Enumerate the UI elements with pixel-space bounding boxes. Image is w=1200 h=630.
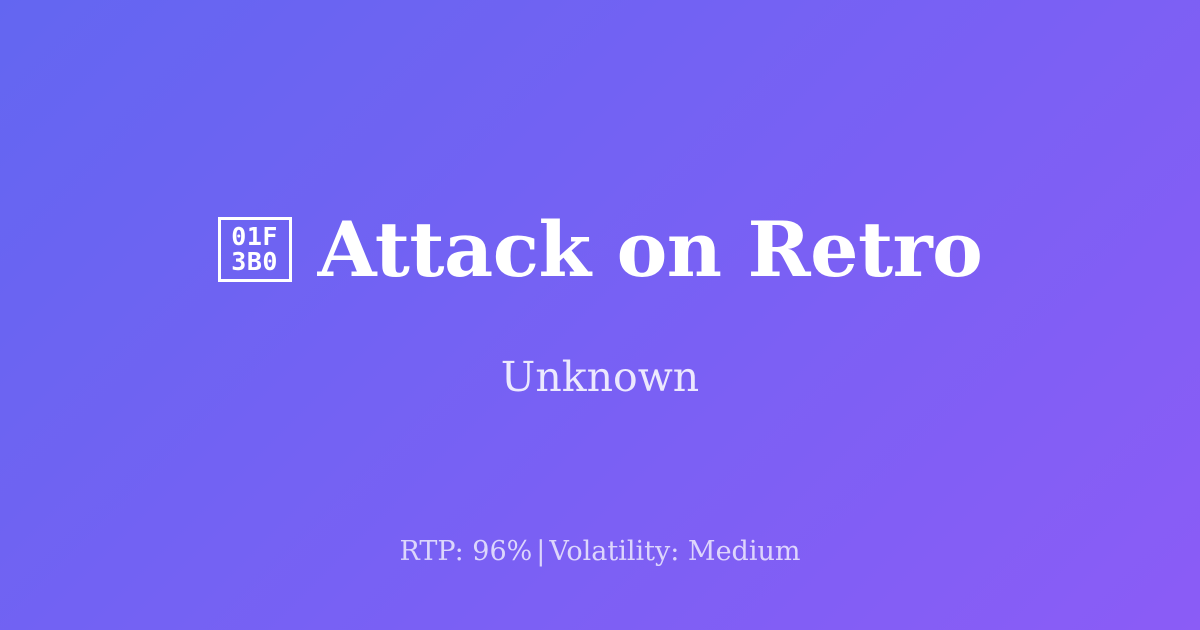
- provider-subtitle: Unknown: [501, 353, 699, 402]
- game-meta: RTP: 96%|Volatility: Medium: [0, 536, 1200, 568]
- og-card: 01F 3B0 Attack on Retro Unknown RTP: 96%…: [0, 0, 1200, 630]
- volatility-value: Volatility: Medium: [549, 536, 800, 567]
- slot-machine-icon: 01F 3B0: [218, 217, 292, 282]
- meta-separator: |: [532, 536, 549, 567]
- page-title: Attack on Retro: [318, 210, 983, 290]
- rtp-value: RTP: 96%: [400, 536, 533, 567]
- codepoint-line-2: 3B0: [231, 250, 278, 275]
- title-row: 01F 3B0 Attack on Retro: [60, 210, 1140, 290]
